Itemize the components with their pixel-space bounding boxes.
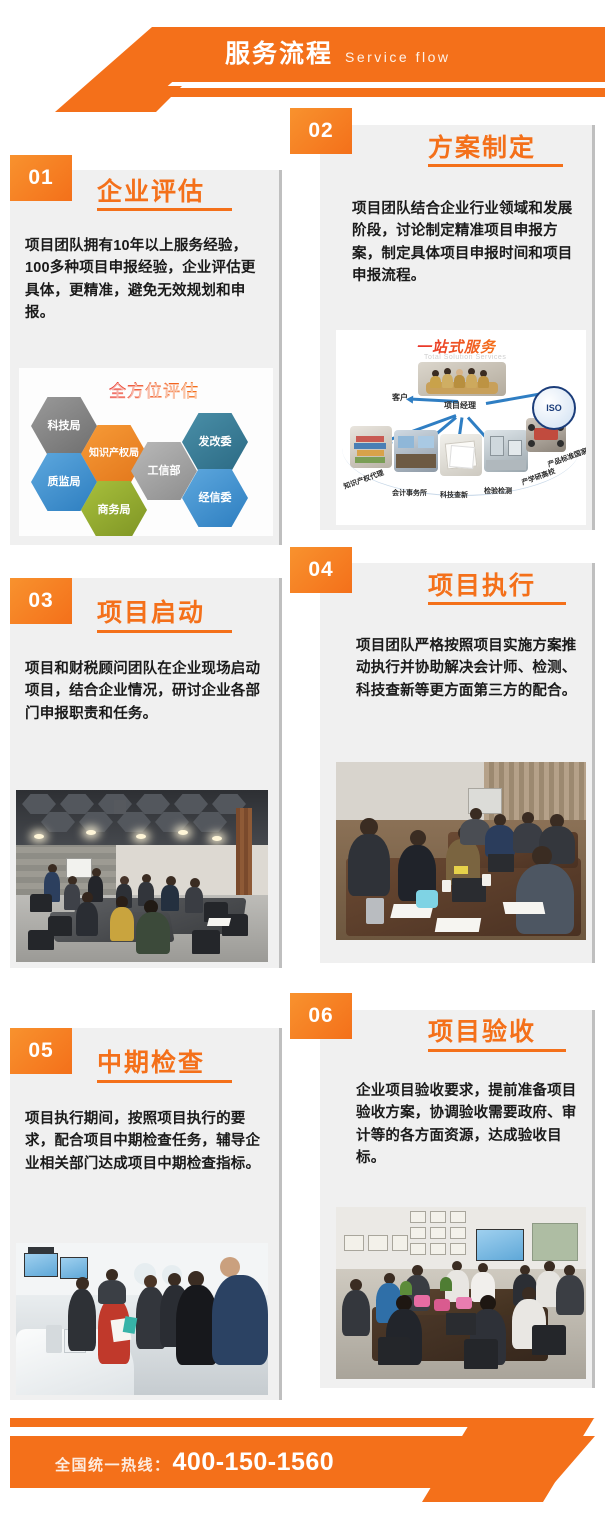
step-media-03 [16, 790, 268, 962]
step-title-05: 中期检查 [97, 1043, 205, 1079]
step-number-badge-02: 02 [290, 108, 352, 154]
page-footer: 全国统一热线： 400-150-1560 [0, 1418, 605, 1538]
step-title-06: 项目验收 [428, 1012, 536, 1048]
oss-label-customer: 客户 [392, 392, 408, 403]
step-title-03: 项目启动 [97, 593, 205, 629]
step-media-05 [16, 1243, 268, 1395]
oss-label-inspection: 检验检测 [484, 486, 512, 496]
footer-hotline-label: 全国统一热线： [55, 1454, 171, 1475]
footer-hotline: 全国统一热线： 400-150-1560 [55, 1448, 334, 1477]
step-number-badge-05: 05 [10, 1028, 72, 1074]
step-number-badge-03: 03 [10, 578, 72, 624]
step-number-badge-04: 04 [290, 547, 352, 593]
page-title-cn: 服务流程 [225, 34, 333, 70]
step-number-badge-06: 06 [290, 993, 352, 1039]
photo-office-team-04 [336, 762, 586, 940]
step-number-05: 05 [28, 1039, 53, 1063]
step-number-badge-01: 01 [10, 155, 72, 201]
page-header: 服务流程 Service flow [0, 0, 605, 112]
hexagon-infographic: 全方位评估 科技局 知识产权局 发改委 质监局 工信部 经信委 商务局 [19, 368, 273, 536]
step-number-06: 06 [308, 1004, 333, 1028]
step-number-02: 02 [308, 119, 333, 143]
step-title-rule-03 [97, 630, 232, 633]
oss-swoosh-arc [342, 400, 580, 496]
step-number-03: 03 [28, 589, 53, 613]
step-description-04: 项目团队严格按照项目实施方案推动执行并协助解决会计师、检测、科技查新等更方面第三… [356, 635, 588, 702]
oss-subtitle: Total Solution Services [424, 354, 506, 361]
step-description-02: 项目团队结合企业行业领域和发展阶段，讨论制定精准项目申报方案，制定具体项目申报时… [352, 198, 584, 288]
step-media-06 [336, 1207, 586, 1379]
step-media-02: 一站式服务 Total Solution Services [336, 330, 586, 525]
step-media-01: 全方位评估 科技局 知识产权局 发改委 质监局 工信部 经信委 商务局 [19, 368, 273, 536]
step-description-03: 项目和财税顾问团队在企业现场启动项目，结合企业情况，研讨企业各部门申报职责和任务… [25, 658, 265, 725]
step-description-01: 项目团队拥有10年以上服务经验，100多种项目申报经验，企业评估更具体，更精准，… [25, 235, 265, 325]
oss-center-photo [418, 362, 506, 396]
oss-seal-text: ISO [546, 403, 562, 413]
photo-meeting-room-03 [16, 790, 268, 962]
service-flow-infographic: 服务流程 Service flow 01 企业评估 项目团队拥有10年以上服务经… [0, 0, 605, 1538]
hexagon-infographic-title: 全方位评估 [109, 377, 199, 402]
step-number-01: 01 [28, 166, 53, 190]
step-number-04: 04 [308, 558, 333, 582]
step-title-rule-04 [428, 602, 566, 605]
step-title-rule-06 [428, 1049, 566, 1052]
step-description-06: 企业项目验收要求，提前准备项目验收方案，协调验收需要政府、审计等的各方面资源，达… [356, 1080, 584, 1170]
step-title-rule-01 [97, 208, 232, 211]
footer-hotline-number[interactable]: 400-150-1560 [173, 1448, 335, 1477]
oss-label-tech-search: 科技查新 [440, 490, 468, 500]
step-title-rule-02 [428, 164, 563, 167]
step-description-05: 项目执行期间，按照项目执行的要求，配合项目中期检查任务，辅导企业相关部门达成项目… [25, 1108, 265, 1175]
one-stop-service-diagram: 一站式服务 Total Solution Services [336, 330, 586, 525]
step-title-rule-05 [97, 1080, 232, 1083]
step-title-01: 企业评估 [97, 172, 205, 208]
header-accent-line [160, 88, 605, 97]
page-title: 服务流程 Service flow [225, 34, 450, 70]
page-title-en: Service flow [345, 49, 450, 65]
step-title-02: 方案制定 [428, 128, 536, 164]
oss-label-accounting: 会计事务所 [392, 488, 427, 498]
photo-acceptance-meeting-06 [336, 1207, 586, 1379]
photo-showroom-05 [16, 1243, 268, 1395]
step-title-04: 项目执行 [428, 566, 536, 602]
step-media-04 [336, 762, 586, 940]
